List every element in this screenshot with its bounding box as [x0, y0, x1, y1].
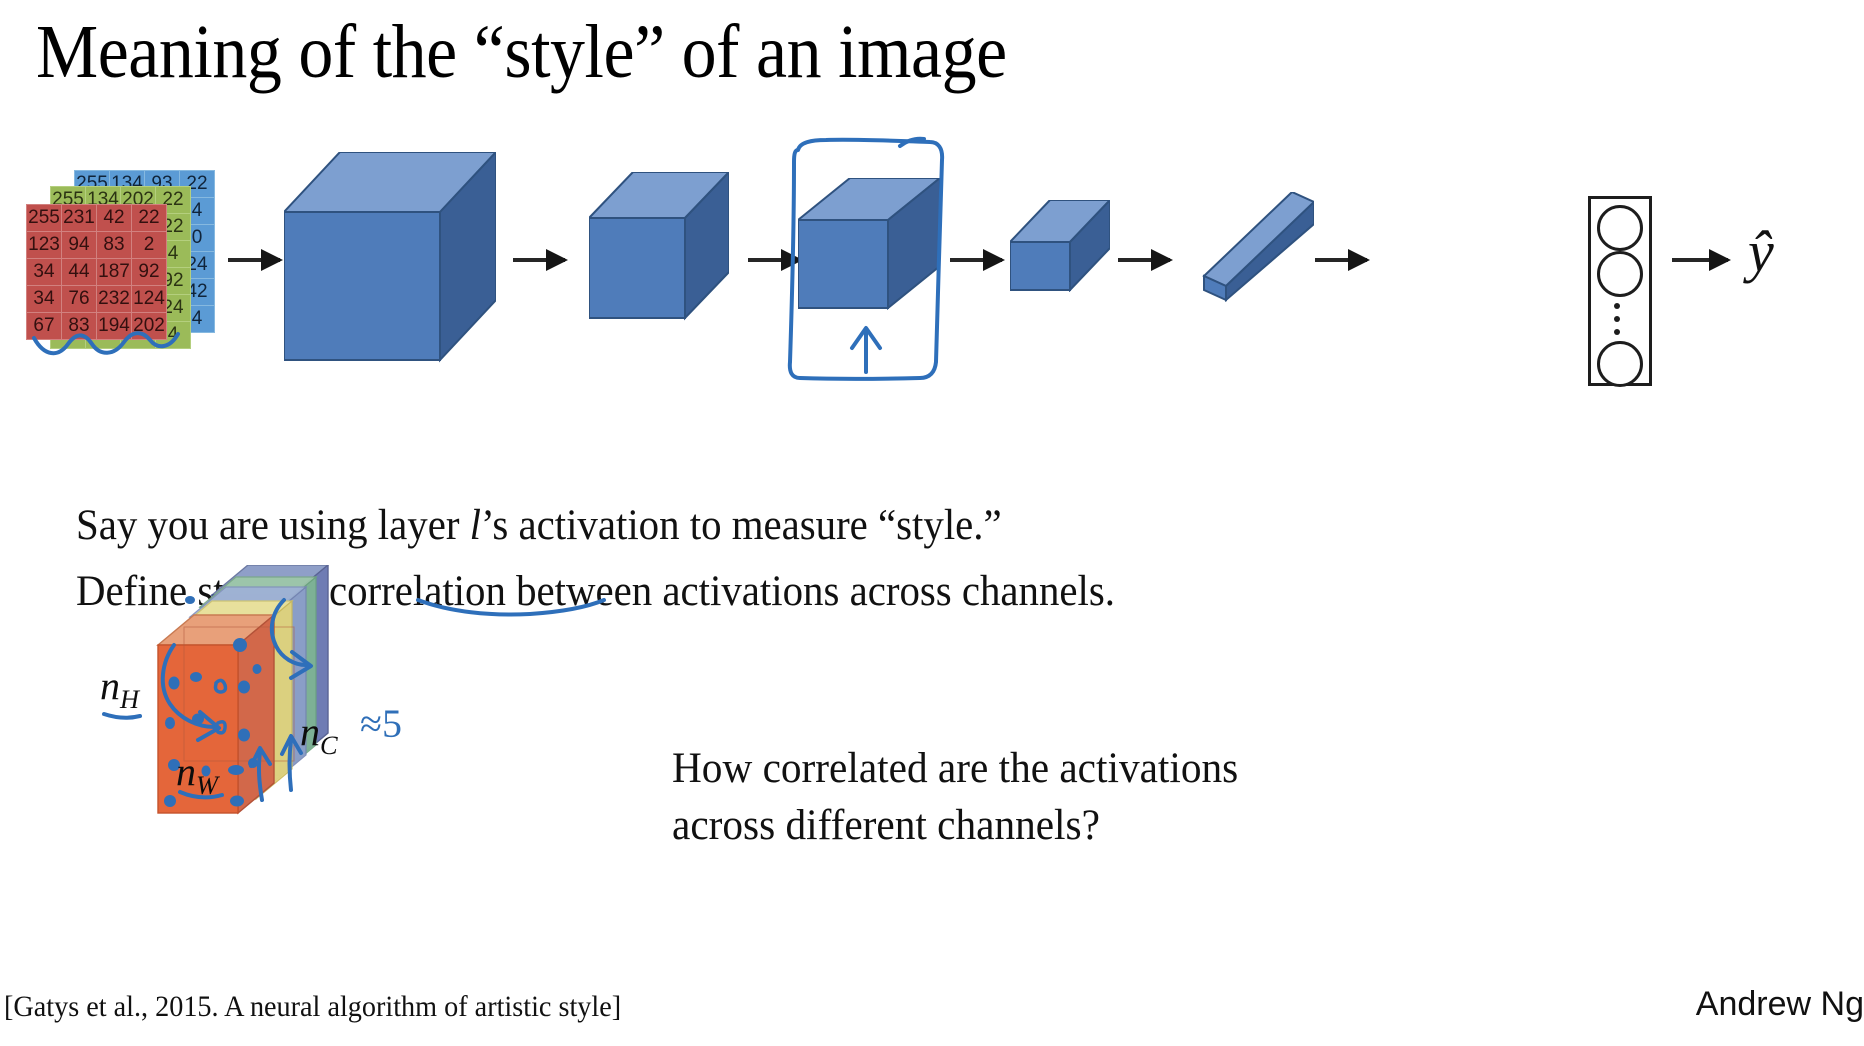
- n-h-subscript: H: [120, 684, 139, 714]
- n-c-label: nC: [300, 708, 338, 761]
- n-w-subscript: W: [196, 770, 218, 800]
- body-line-1-pre: Say you are using layer: [76, 502, 470, 549]
- ink-arrow-head-to-layer-l: [852, 328, 880, 348]
- arrow-2: [513, 258, 565, 262]
- arrow-4: [950, 258, 1002, 262]
- body-line-1-post: ’s activation to measure “style.”: [481, 502, 1002, 549]
- red-channel-grid: 2552314222 12394832 344418792 3476232124…: [26, 204, 167, 340]
- output-yhat-label: ŷ: [1748, 218, 1774, 285]
- question-line-2: across different channels?: [672, 797, 1238, 854]
- conv-block-1: [284, 152, 496, 373]
- fc-ellipsis-dot-2: [1614, 316, 1620, 322]
- fully-connected-layer-box: [1588, 196, 1652, 386]
- arrow-1: [228, 258, 280, 262]
- layer-variable: l: [470, 502, 481, 549]
- question-block: How correlated are the activations acros…: [672, 740, 1238, 854]
- arrow-7: [1672, 258, 1728, 262]
- arrow-3: [748, 258, 800, 262]
- citation-text: [Gatys et al., 2015. A neural algorithm …: [4, 990, 621, 1024]
- ink-tick-top-of-box: [900, 139, 924, 146]
- fc-neuron-n: [1597, 341, 1643, 387]
- flatten-vector: [1196, 192, 1314, 309]
- body-line-1: Say you are using layer l’s activation t…: [76, 498, 1002, 554]
- n-h-label: nH: [100, 662, 139, 715]
- n-c-subscript: C: [320, 730, 338, 760]
- arrow-6: [1315, 258, 1367, 262]
- channel-count-annotation: ≈5: [360, 700, 402, 747]
- author-credit: Andrew Ng: [1696, 985, 1864, 1024]
- arrow-5: [1118, 258, 1170, 262]
- conv-block-3-layer-l: [798, 178, 940, 325]
- n-c-symbol: n: [300, 709, 320, 754]
- conv-block-2: [589, 172, 729, 329]
- n-h-symbol: n: [100, 663, 120, 708]
- fc-neuron-1: [1597, 205, 1643, 251]
- fc-neuron-2: [1597, 251, 1643, 297]
- fc-ellipsis-dot-3: [1614, 329, 1620, 335]
- question-line-1: How correlated are the activations: [672, 740, 1238, 797]
- page-title: Meaning of the “style” of an image: [36, 14, 1007, 90]
- n-w-label: nW: [176, 748, 218, 801]
- input-image-rgb-stack: 2551349322 4 0 24 42 4 25513420222 22 4 …: [26, 170, 226, 360]
- conv-block-4: [1010, 200, 1110, 297]
- fc-ellipsis-dot-1: [1614, 303, 1620, 309]
- n-w-symbol: n: [176, 749, 196, 794]
